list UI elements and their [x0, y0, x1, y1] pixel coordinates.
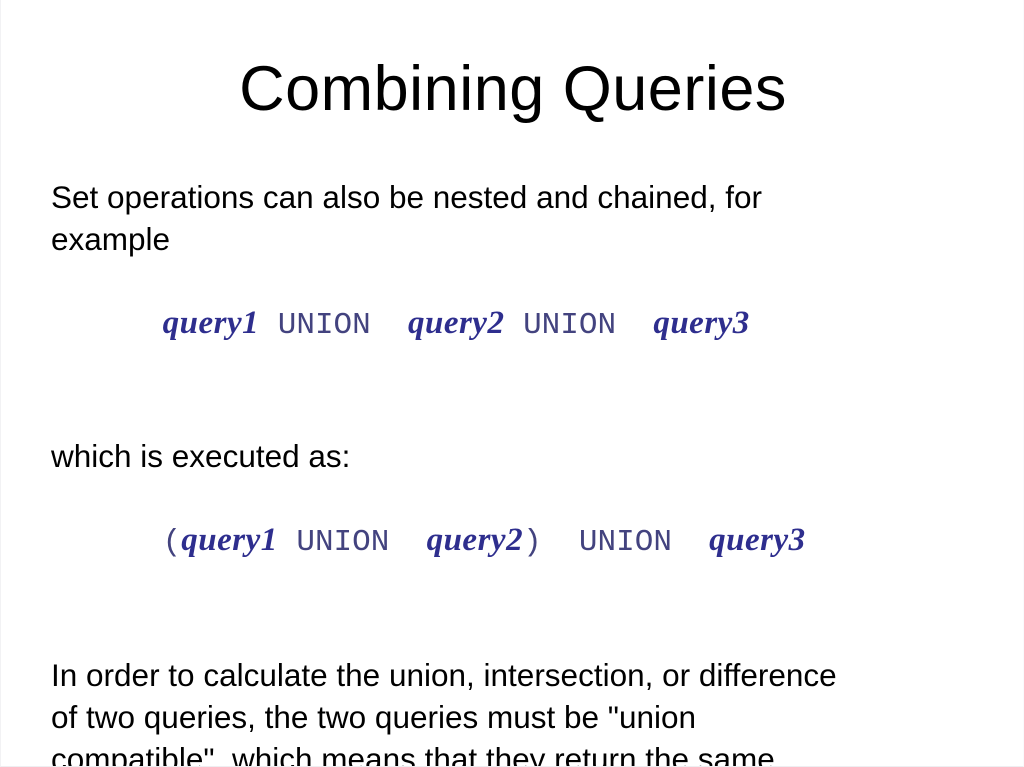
code-token-open-paren: ( [163, 525, 182, 560]
code-token-union-1: UNION [278, 308, 371, 343]
paragraph-intro: Set operations can also be nested and ch… [51, 176, 995, 260]
code-line-chained: query1 UNION query2 UNION query3 [51, 260, 995, 389]
paragraph-union-compatible: In order to calculate the union, interse… [51, 654, 995, 767]
spacer-2 [51, 606, 995, 654]
code-space [259, 308, 278, 343]
slide: Combining Queries Set operations can als… [0, 0, 1024, 767]
code-token-union-2: UNION [523, 308, 616, 343]
code-token-union-2: UNION [579, 525, 672, 560]
code-token-query1: query1 [181, 522, 278, 558]
code-space [371, 308, 408, 343]
slide-body: Set operations can also be nested and ch… [51, 176, 995, 767]
code-token-query1: query1 [163, 305, 260, 341]
code-token-query3: query3 [653, 305, 750, 341]
paragraph-executed-as: which is executed as: [51, 435, 995, 477]
code-line-parenthesized: (query1 UNION query2) UNION query3 [51, 477, 995, 606]
page-title: Combining Queries [1, 58, 1024, 121]
code-space [542, 525, 579, 560]
code-token-union-1: UNION [296, 525, 389, 560]
code-token-query2: query2 [427, 522, 524, 558]
spacer-1 [51, 389, 995, 435]
code-token-close-paren: ) [523, 525, 542, 560]
code-space [504, 308, 523, 343]
code-space [278, 525, 297, 560]
code-token-query2: query2 [408, 305, 505, 341]
code-space [389, 525, 426, 560]
code-space [672, 525, 709, 560]
code-space [616, 308, 653, 343]
code-token-query3: query3 [709, 522, 806, 558]
